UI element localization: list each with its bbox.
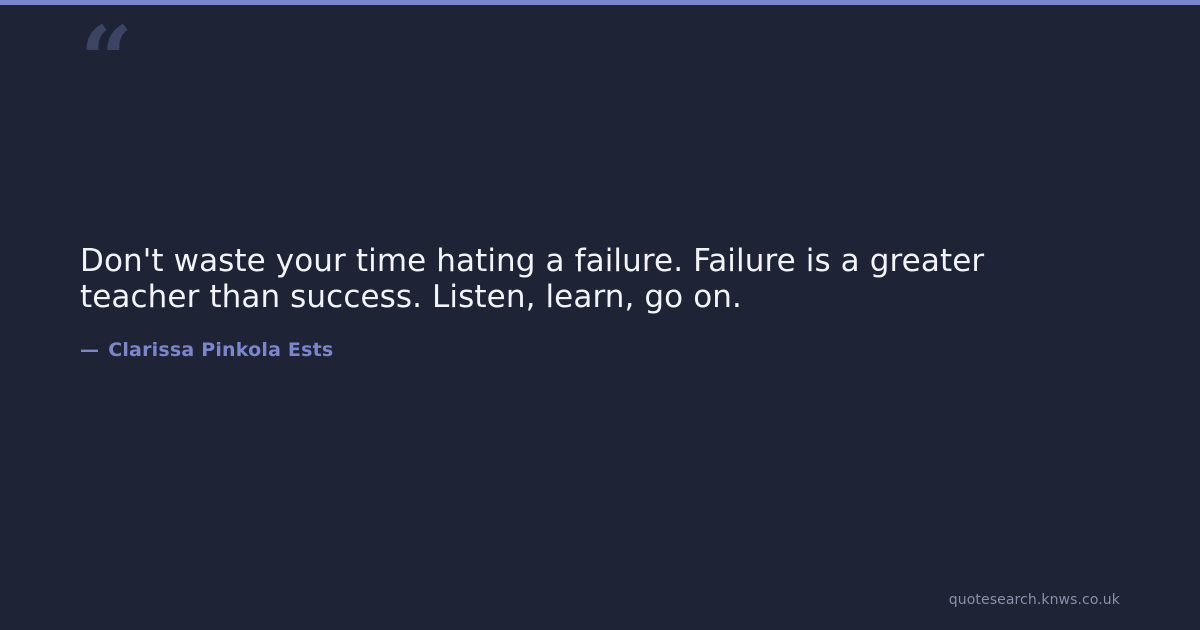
quote-card: “ Don't waste your time hating a failure… (0, 0, 1200, 630)
quotation-mark-icon: “ (80, 14, 131, 106)
attribution-dash: — (80, 339, 99, 361)
quote-text: Don't waste your time hating a failure. … (80, 243, 1080, 315)
quote-body: Don't waste your time hating a failure. … (80, 243, 1080, 315)
author-name: Clarissa Pinkola Ests (108, 339, 333, 361)
source-url: quotesearch.knws.co.uk (949, 592, 1120, 608)
attribution: — Clarissa Pinkola Ests (80, 339, 333, 361)
top-accent-bar (0, 0, 1200, 5)
